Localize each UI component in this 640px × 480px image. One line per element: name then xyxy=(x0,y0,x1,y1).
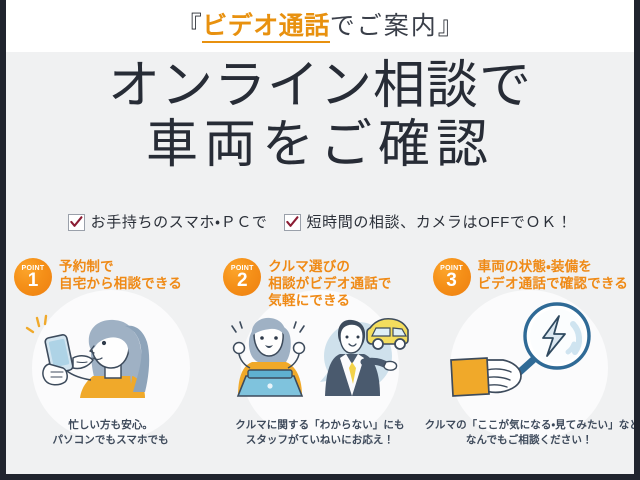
point-1-badge-number: 1 xyxy=(28,273,39,289)
point-3-caption-line-1: なんでもご相談ください！ xyxy=(425,433,634,448)
ribbon-open-bracket: 『 xyxy=(177,12,203,40)
headline-line-1: オンライン相談で xyxy=(6,56,634,116)
point-2-caption-line-0: クルマに関する「わからない」にも xyxy=(215,418,424,433)
point-1-caption-line-0: 忙しい方も安心。 xyxy=(6,418,215,433)
point-1-badge: POINT 1 xyxy=(14,258,52,296)
point-2-title-line-0: クルマ選びの xyxy=(268,258,391,275)
point-1-header: POINT 1 予約制で 自宅から相談できる xyxy=(14,256,182,296)
point-3-title-line-0: 車両の状態・装備を xyxy=(478,258,628,275)
feature-check-row: お手持ちのスマホ・ＰＣで 短時間の相談、カメラはOFFでＯＫ！ xyxy=(6,214,634,231)
promo-banner-frame: 『ビデオ通話でご案内』 オンライン相談で 車両をご確認 お手持ちのスマホ・ＰＣで xyxy=(0,0,640,480)
ribbon-highlight-text: ビデオ通話 xyxy=(202,12,330,43)
check-label-0: お手持ちのスマホ・ＰＣで xyxy=(91,215,268,230)
point-1-title: 予約制で 自宅から相談できる xyxy=(59,256,182,292)
ribbon-close-bracket: 』 xyxy=(438,12,464,40)
ribbon-tail-text: でご案内 xyxy=(330,12,438,40)
woman-at-laptop-and-staff-with-car-illustration xyxy=(230,298,410,398)
point-1-title-line-1: 自宅から相談できる xyxy=(59,275,182,292)
point-2-title: クルマ選びの 相談がビデオ通話で 気軽にできる xyxy=(268,256,391,309)
point-2-title-line-1: 相談がビデオ通話で xyxy=(268,275,391,292)
check-icon xyxy=(68,214,85,231)
point-3-badge-number: 3 xyxy=(446,273,457,289)
point-1-caption: 忙しい方も安心。 パソコンでもスマホでも xyxy=(6,418,215,448)
point-2-badge-number: 2 xyxy=(237,273,248,289)
point-2-badge: POINT 2 xyxy=(223,258,261,296)
check-label-1: 短時間の相談、カメラはOFFでＯＫ！ xyxy=(307,215,573,230)
point-2-title-line-2: 気軽にできる xyxy=(268,292,391,309)
check-icon xyxy=(284,214,301,231)
point-column-3: POINT 3 車両の状態・装備を ビデオ通話で確認できる xyxy=(425,256,634,456)
point-3-badge: POINT 3 xyxy=(433,258,471,296)
point-1-title-line-0: 予約制で xyxy=(59,258,182,275)
point-3-caption: クルマの「ここが気になる・見てみたい」など なんでもご相談ください！ xyxy=(425,418,634,448)
point-3-title-line-1: ビデオ通話で確認できる xyxy=(478,275,628,292)
point-3-title: 車両の状態・装備を ビデオ通話で確認できる xyxy=(478,256,628,292)
woman-with-smartphone-illustration xyxy=(21,298,201,398)
point-column-1: POINT 1 予約制で 自宅から相談できる xyxy=(6,256,215,456)
check-item-0: お手持ちのスマホ・ＰＣで xyxy=(68,214,268,231)
point-2-header: POINT 2 クルマ選びの 相談がビデオ通話で 気軽にできる xyxy=(223,256,391,309)
points-row: POINT 1 予約制で 自宅から相談できる xyxy=(6,256,634,456)
point-2-caption-line-1: スタッフがていねいにお応え！ xyxy=(215,433,424,448)
headline-line-2: 車両をご確認 xyxy=(6,116,634,174)
promo-banner-stage: 『ビデオ通話でご案内』 オンライン相談で 車両をご確認 お手持ちのスマホ・ＰＣで xyxy=(6,0,634,474)
point-column-2: POINT 2 クルマ選びの 相談がビデオ通話で 気軽にできる xyxy=(215,256,424,456)
page-title: オンライン相談で 車両をご確認 xyxy=(6,56,634,174)
point-3-caption-line-0: クルマの「ここが気になる・見てみたい」など xyxy=(425,418,634,433)
point-2-caption: クルマに関する「わからない」にも スタッフがていねいにお応え！ xyxy=(215,418,424,448)
ribbon-band: 『ビデオ通話でご案内』 xyxy=(6,0,634,52)
point-1-caption-line-1: パソコンでもスマホでも xyxy=(6,433,215,448)
hand-holding-magnifier-illustration xyxy=(439,298,619,398)
point-3-header: POINT 3 車両の状態・装備を ビデオ通話で確認できる xyxy=(433,256,628,296)
check-item-1: 短時間の相談、カメラはOFFでＯＫ！ xyxy=(284,214,573,231)
ribbon-headline: 『ビデオ通話でご案内』 xyxy=(177,14,464,39)
